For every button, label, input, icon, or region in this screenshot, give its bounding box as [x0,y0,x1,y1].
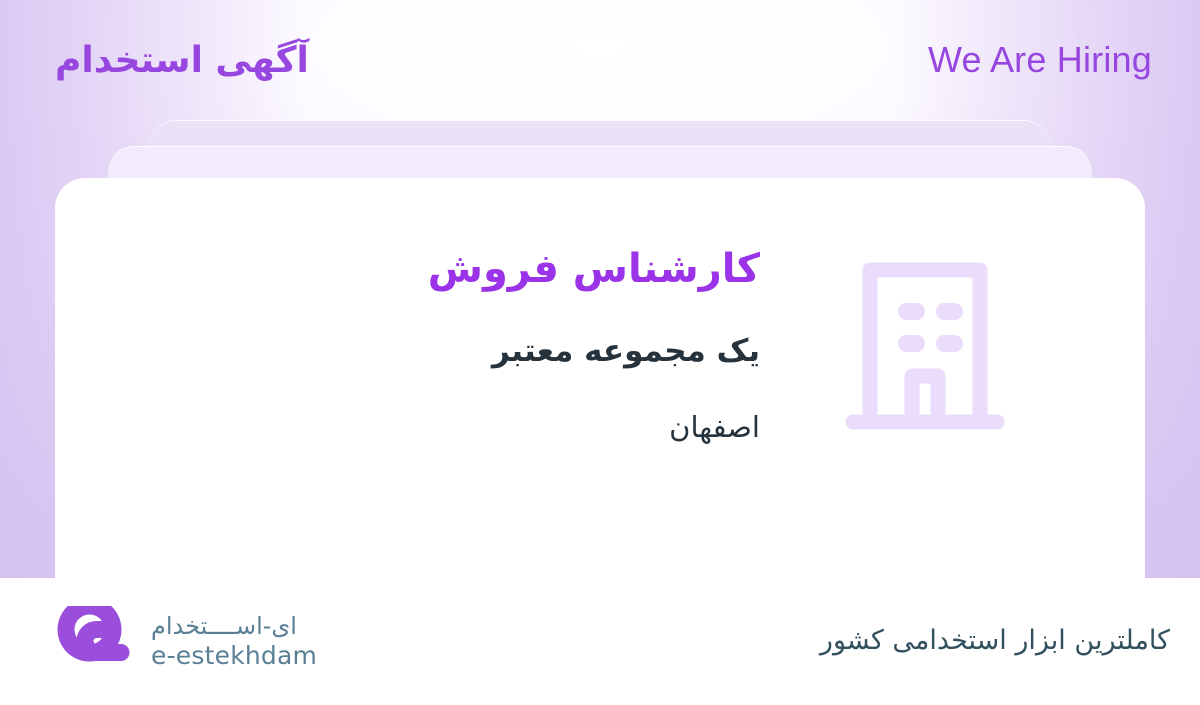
poster-header: We Are Hiring آگهی استخدام [0,0,1200,120]
footer-tagline: کاملترین ابزار استخدامی کشور [820,621,1170,662]
building-icon [845,254,1005,430]
job-details: کارشناس فروش یک مجموعه معتبر اصفهان [55,234,760,448]
brand-logo: ای-اســــتخدام e-estekhdam [55,606,317,678]
brand-name-en: e-estekhdam [151,641,317,672]
we-are-hiring-label: We Are Hiring [928,42,1152,78]
job-card-content: کارشناس فروش یک مجموعه معتبر اصفهان [55,178,1145,578]
company-logo-slot [760,234,1090,430]
poster-footer: کاملترین ابزار استخدامی کشور ای-اســــتخ… [0,578,1200,705]
job-ad-poster: We Are Hiring آگهی استخدام کارشناس ف [0,0,1200,705]
job-title: کارشناس فروش [55,242,760,296]
brand-wordmark: ای-اســــتخدام e-estekhdam [151,612,317,672]
job-location: اصفهان [55,407,760,448]
job-ad-label-fa: آگهی استخدام [55,38,309,83]
brand-name-fa: ای-اســــتخدام [151,612,317,641]
e-logo-icon [55,606,133,678]
company-name: یک مجموعه معتبر [55,330,760,373]
